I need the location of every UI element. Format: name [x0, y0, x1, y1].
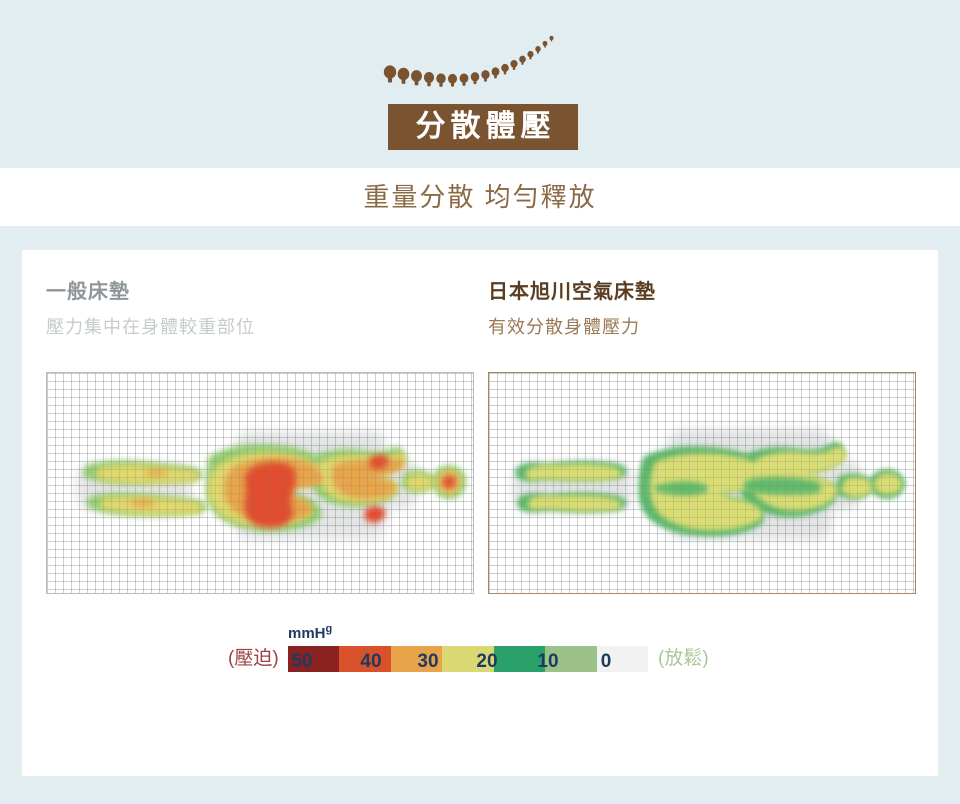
pressure-map-air-mattress — [488, 372, 916, 594]
pressure-legend-inner: mmHg (壓迫) (放鬆) 50 40 30 2 — [228, 622, 738, 718]
legend-tick-0: 0 — [601, 652, 612, 671]
panel-normal-mattress-subtitle: 壓力集中在身體較重部位 — [46, 318, 476, 336]
legend-unit-main: mmH — [288, 625, 326, 642]
hero-section: 分散體壓 — [0, 0, 960, 168]
legend-unit-label: mmHg — [288, 624, 332, 641]
panel-air-mattress-title: 日本旭川空氣床墊 — [488, 282, 918, 302]
panel-air-mattress: 日本旭川空氣床墊 有效分散身體壓力 — [488, 250, 918, 602]
legend-label-pressure: (壓迫) — [228, 649, 279, 668]
comparison-card: 一般床墊 壓力集中在身體較重部位 — [22, 250, 938, 776]
legend-tick-50: 50 — [291, 652, 312, 671]
heatmap-canvas-normal — [47, 373, 473, 593]
panels-container: 一般床墊 壓力集中在身體較重部位 — [22, 250, 938, 602]
legend-tick-20: 20 — [476, 652, 497, 671]
section-badge-label: 分散體壓 — [411, 112, 556, 142]
pressure-legend: mmHg (壓迫) (放鬆) 50 40 30 2 — [22, 622, 938, 718]
legend-tick-10: 10 — [537, 652, 558, 671]
panel-normal-mattress-title: 一般床墊 — [46, 282, 476, 302]
heatmap-canvas-air — [489, 373, 915, 593]
subtitle-band: 重量分散 均勻釋放 — [0, 168, 960, 226]
subtitle-text: 重量分散 均勻釋放 — [363, 184, 596, 210]
legend-unit-superscript: g — [326, 623, 333, 635]
legend-label-relax: (放鬆) — [658, 649, 709, 668]
panel-normal-mattress: 一般床墊 壓力集中在身體較重部位 — [46, 250, 476, 602]
legend-tick-30: 30 — [417, 652, 438, 671]
section-badge: 分散體壓 — [388, 104, 578, 150]
spine-vertebrae-arc-icon — [382, 28, 582, 90]
panel-air-mattress-subtitle: 有效分散身體壓力 — [488, 318, 918, 336]
legend-tick-40: 40 — [360, 652, 381, 671]
pressure-map-normal-mattress — [46, 372, 474, 594]
legend-tick-row: 50 40 30 20 10 0 — [288, 652, 648, 676]
